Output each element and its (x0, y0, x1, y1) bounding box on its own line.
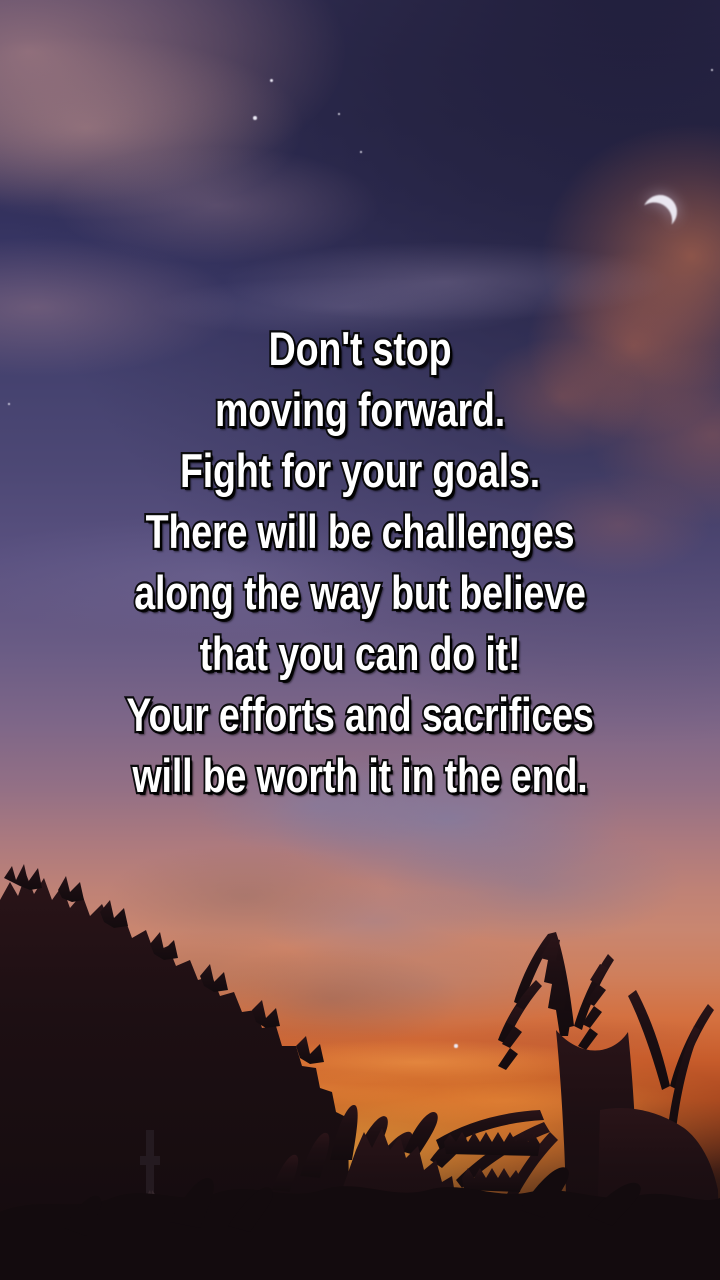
quote-line: Fight for your goals. (72, 440, 648, 501)
quote-line: Your efforts and sacrifices (72, 684, 648, 745)
quote-poster: Don't stop moving forward. Fight for you… (0, 0, 720, 1280)
star-icon (711, 69, 713, 71)
star-icon (253, 116, 257, 120)
quote-line: moving forward. (72, 379, 648, 440)
crescent-moon-icon (637, 189, 682, 234)
star-icon (360, 151, 362, 153)
quote-line: Don't stop (72, 318, 648, 379)
star-icon (270, 79, 273, 82)
quote-line: will be worth it in the end. (72, 745, 648, 806)
tree-silhouette-layer (0, 860, 720, 1280)
quote-line: that you can do it! (72, 623, 648, 684)
quote-text-block: Don't stop moving forward. Fight for you… (0, 318, 720, 806)
quote-line: There will be challenges (72, 501, 648, 562)
quote-line: along the way but believe (72, 562, 648, 623)
star-icon (338, 113, 340, 115)
